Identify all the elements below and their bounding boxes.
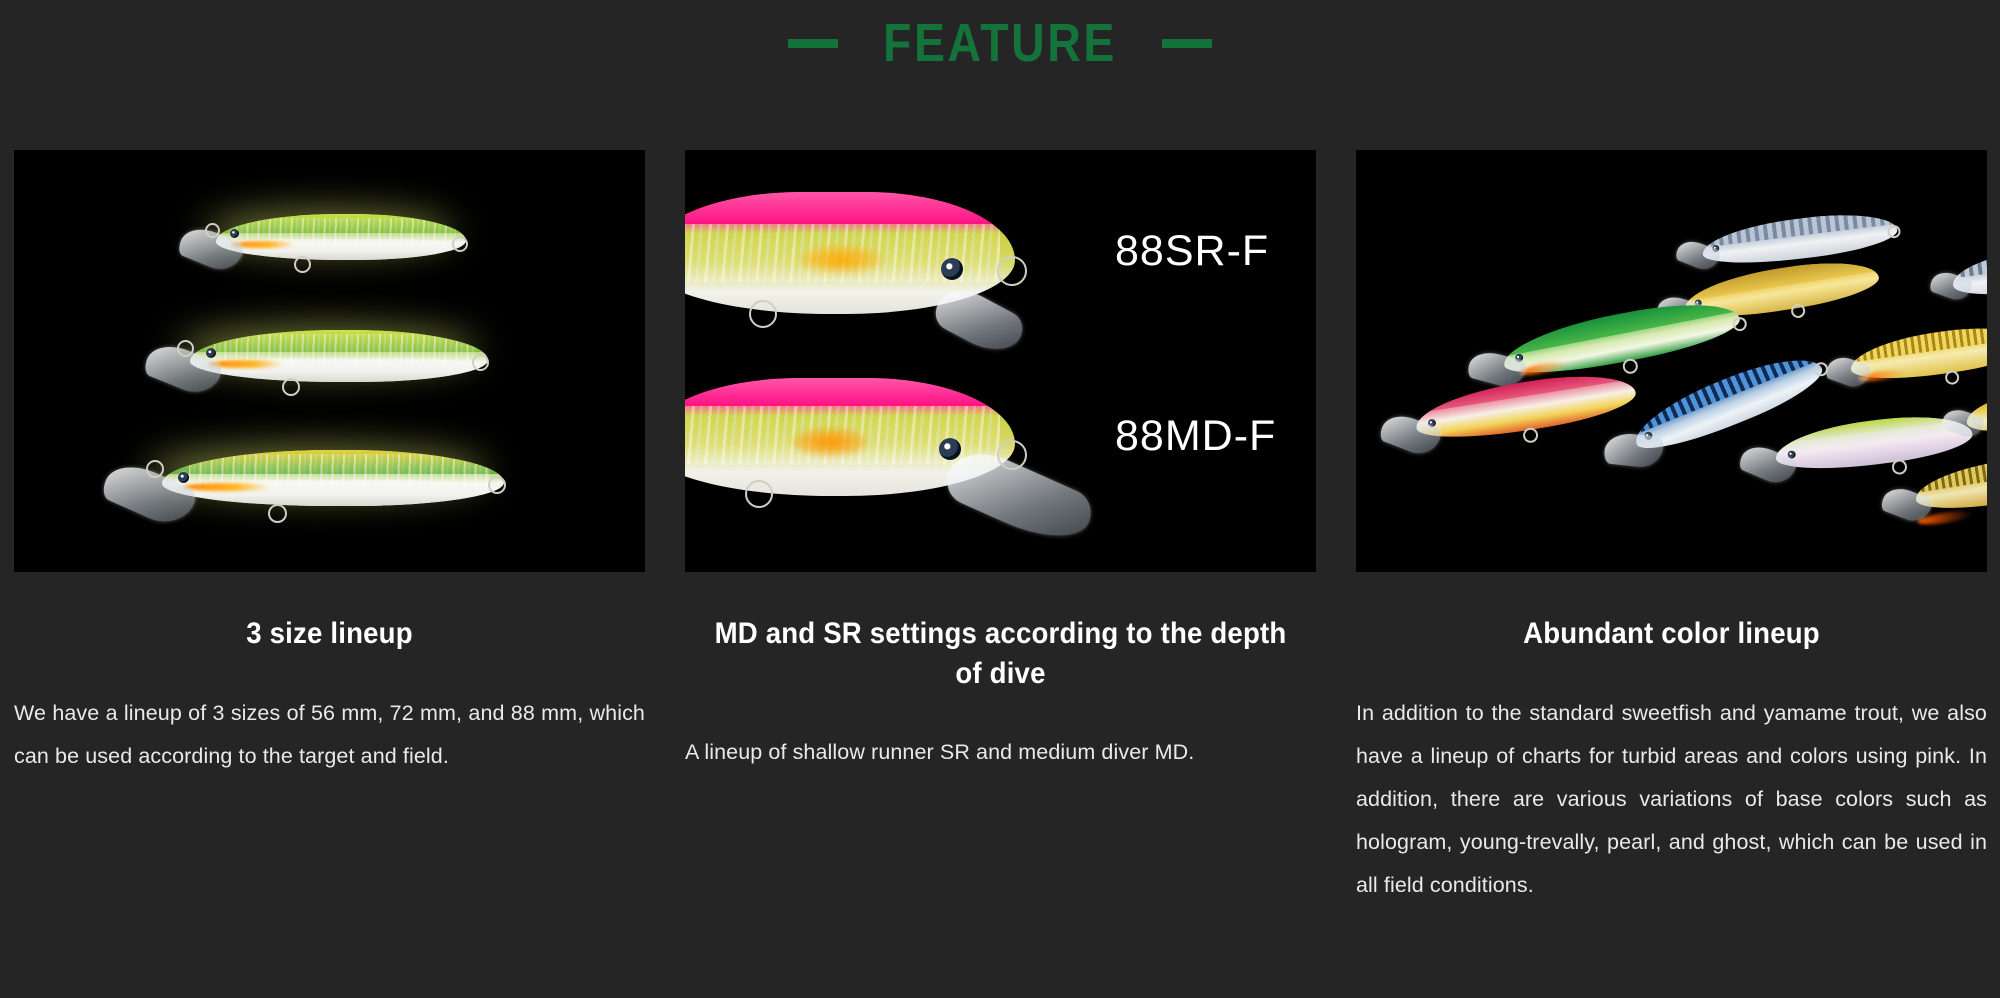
feature-card-grid: 3 size lineup We have a lineup of 3 size… [14,150,1986,907]
feature-card-md-sr: 88SR-F 88MD-F MD and SR settings accordi… [685,150,1316,907]
feature-page: FEATURE [0,0,2000,998]
title-dash-right-icon [1162,39,1212,48]
lure-72mm [132,318,504,396]
photo-md-sr-models: 88SR-F 88MD-F [685,150,1316,572]
lure-tail-ring [452,236,468,252]
lure-nose-ring [205,223,220,238]
lure-belly-ring [282,378,300,396]
lure-back-stripe [1950,241,1987,279]
feature-card-size-lineup: 3 size lineup We have a lineup of 3 size… [14,150,645,907]
model-label-88md-f: 88MD-F [1115,412,1276,461]
lure-belly-ring [294,256,311,273]
lure-throat-accent [793,428,867,456]
lure-color-partial-top-right [1939,237,1987,311]
lure-56mm [164,202,474,272]
card-heading: Abundant color lineup [1381,614,1962,654]
lure-throat-accent [800,246,881,273]
lure-88sr-f [685,174,1065,364]
lure-tail-ring [1732,316,1748,332]
card-body-text: In addition to the standard sweetfish an… [1356,692,1987,907]
lure-body [190,330,488,382]
title-dash-left-icon [788,39,838,48]
lure-tail-ring [1887,224,1901,238]
lure-eye [939,438,961,460]
lure-eye [206,348,216,358]
lure-belly-ring [749,300,777,328]
lure-back-stripe [685,378,1015,406]
lure-diving-lip [1603,431,1664,469]
lure-tail-ring [488,476,506,494]
photo-three-size-lineup [14,150,645,572]
lure-eye [941,258,963,280]
lure-body [216,214,466,260]
lure-color-partial-right [1944,377,1987,451]
lure-nose-ring [177,340,194,357]
lure-88mm [92,438,524,526]
feature-card-color-lineup: Abundant color lineup In addition to the… [1356,150,1987,907]
section-title: FEATURE [0,0,2000,86]
lure-nose-ring [997,440,1027,470]
lure-back-stripe [685,192,1015,224]
lure-belly-ring [745,480,773,508]
lure-belly-ring [268,504,287,523]
lure-eye [178,472,189,483]
lure-88md-f [685,358,1105,558]
card-body-text: A lineup of shallow runner SR and medium… [685,731,1316,774]
model-label-88sr-f: 88SR-F [1115,227,1269,276]
card-heading: 3 size lineup [39,614,620,654]
page-title: FEATURE [883,16,1117,70]
card-body-text: We have a lineup of 3 sizes of 56 mm, 72… [14,692,645,778]
lure-tail-ring [472,354,489,371]
lure-nose-ring [997,256,1027,286]
lure-belly-ring [1944,370,1960,386]
lure-eye [230,229,239,238]
photo-color-lineup [1356,150,1987,572]
lure-back-stripe [1499,292,1738,358]
lure-body [162,450,504,506]
card-heading: MD and SR settings according to the dept… [710,614,1291,693]
lure-back-stripe [1700,207,1897,248]
lure-nose-ring [146,460,164,478]
lure-back-stripe [1848,320,1987,363]
lure-belly-ring [1522,427,1539,444]
